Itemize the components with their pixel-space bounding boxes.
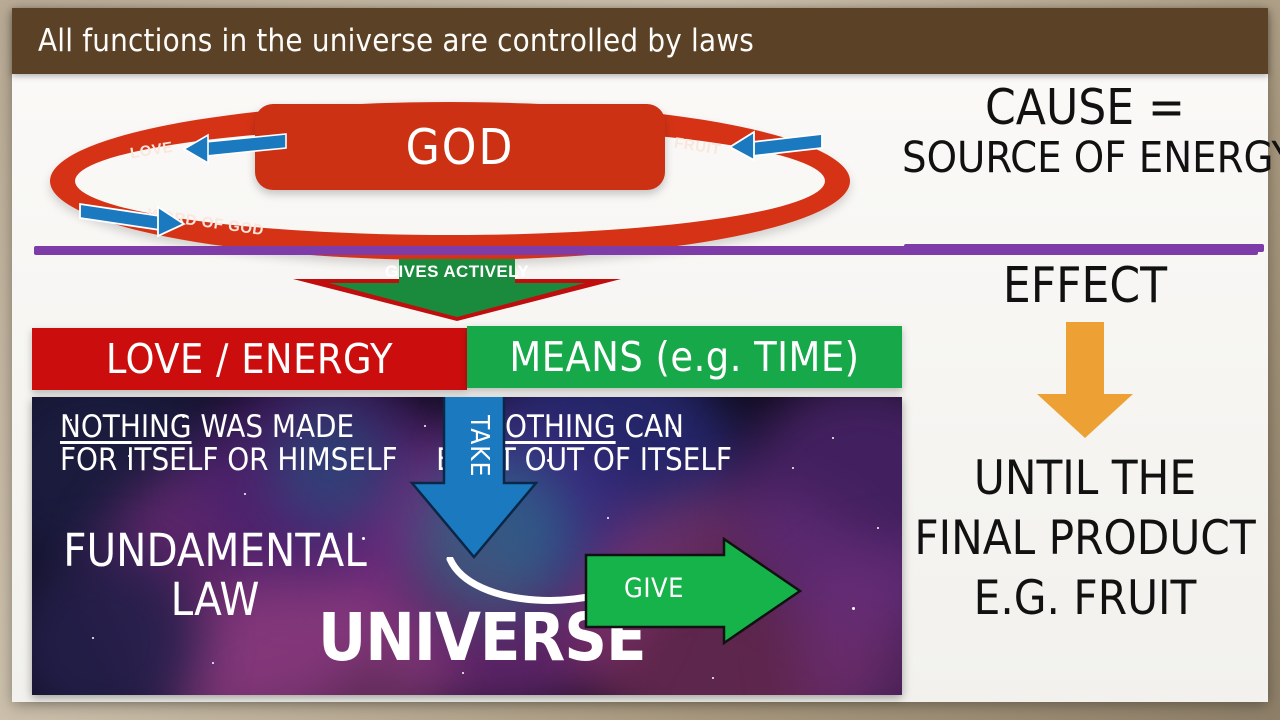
- cause-label: CAUSE =: [902, 82, 1268, 134]
- left-content-column: GOD LOVE FRUIT WORD OF GOD: [12, 74, 902, 702]
- fundamental-law-line1: FUNDAMENTAL: [63, 524, 367, 577]
- fundamental-law-line2: LAW: [171, 573, 260, 626]
- take-arrow-label: TAKE: [464, 415, 494, 477]
- eg-fruit-label: E.G. FRUIT: [902, 574, 1268, 624]
- gives-actively-label: GIVES ACTIVELY: [267, 262, 647, 282]
- universe-right-rest: CAN: [616, 409, 684, 445]
- banner-love-energy-label: LOVE / ENERGY: [106, 335, 393, 383]
- gives-actively-arrow-group: GIVES ACTIVELY: [267, 259, 647, 321]
- until-the-label: UNTIL THE: [902, 454, 1268, 504]
- love-direction-arrow-icon: [162, 130, 292, 170]
- right-content-column: CAUSE = SOURCE OF ENERGY EFFECT UNTIL TH…: [902, 74, 1268, 702]
- god-box: GOD: [255, 104, 665, 190]
- banner-love-energy: LOVE / ENERGY: [32, 328, 467, 390]
- universe-left-rest: WAS MADE: [192, 409, 355, 445]
- effect-orange-arrow-icon: [1033, 322, 1137, 440]
- banner-means: MEANS (e.g. TIME): [467, 326, 902, 388]
- slide-title-bar: All functions in the universe are contro…: [12, 8, 1268, 74]
- fruit-direction-arrow-icon: [718, 128, 828, 166]
- final-product-label: FINAL PRODUCT: [902, 514, 1268, 564]
- universe-image-panel: NOTHING WAS MADE FOR ITSELF OR HIMSELF N…: [32, 397, 902, 695]
- source-of-energy-label: SOURCE OF ENERGY: [902, 136, 1268, 182]
- divider-purple-right: [904, 244, 1264, 252]
- word-of-god-direction-arrow-icon: [74, 200, 209, 244]
- slide-stage: All functions in the universe are contro…: [0, 0, 1280, 720]
- slide-title-text: All functions in the universe are contro…: [38, 23, 754, 59]
- universe-text-left: NOTHING WAS MADE FOR ITSELF OR HIMSELF: [60, 411, 398, 478]
- universe-left-line2: FOR ITSELF OR HIMSELF: [60, 442, 398, 478]
- give-arrow-label: GIVE: [584, 573, 724, 604]
- universe-left-underlined: NOTHING: [60, 409, 192, 445]
- effect-label: EFFECT: [902, 260, 1268, 312]
- banner-means-label: MEANS (e.g. TIME): [509, 333, 859, 381]
- god-label: GOD: [406, 119, 515, 176]
